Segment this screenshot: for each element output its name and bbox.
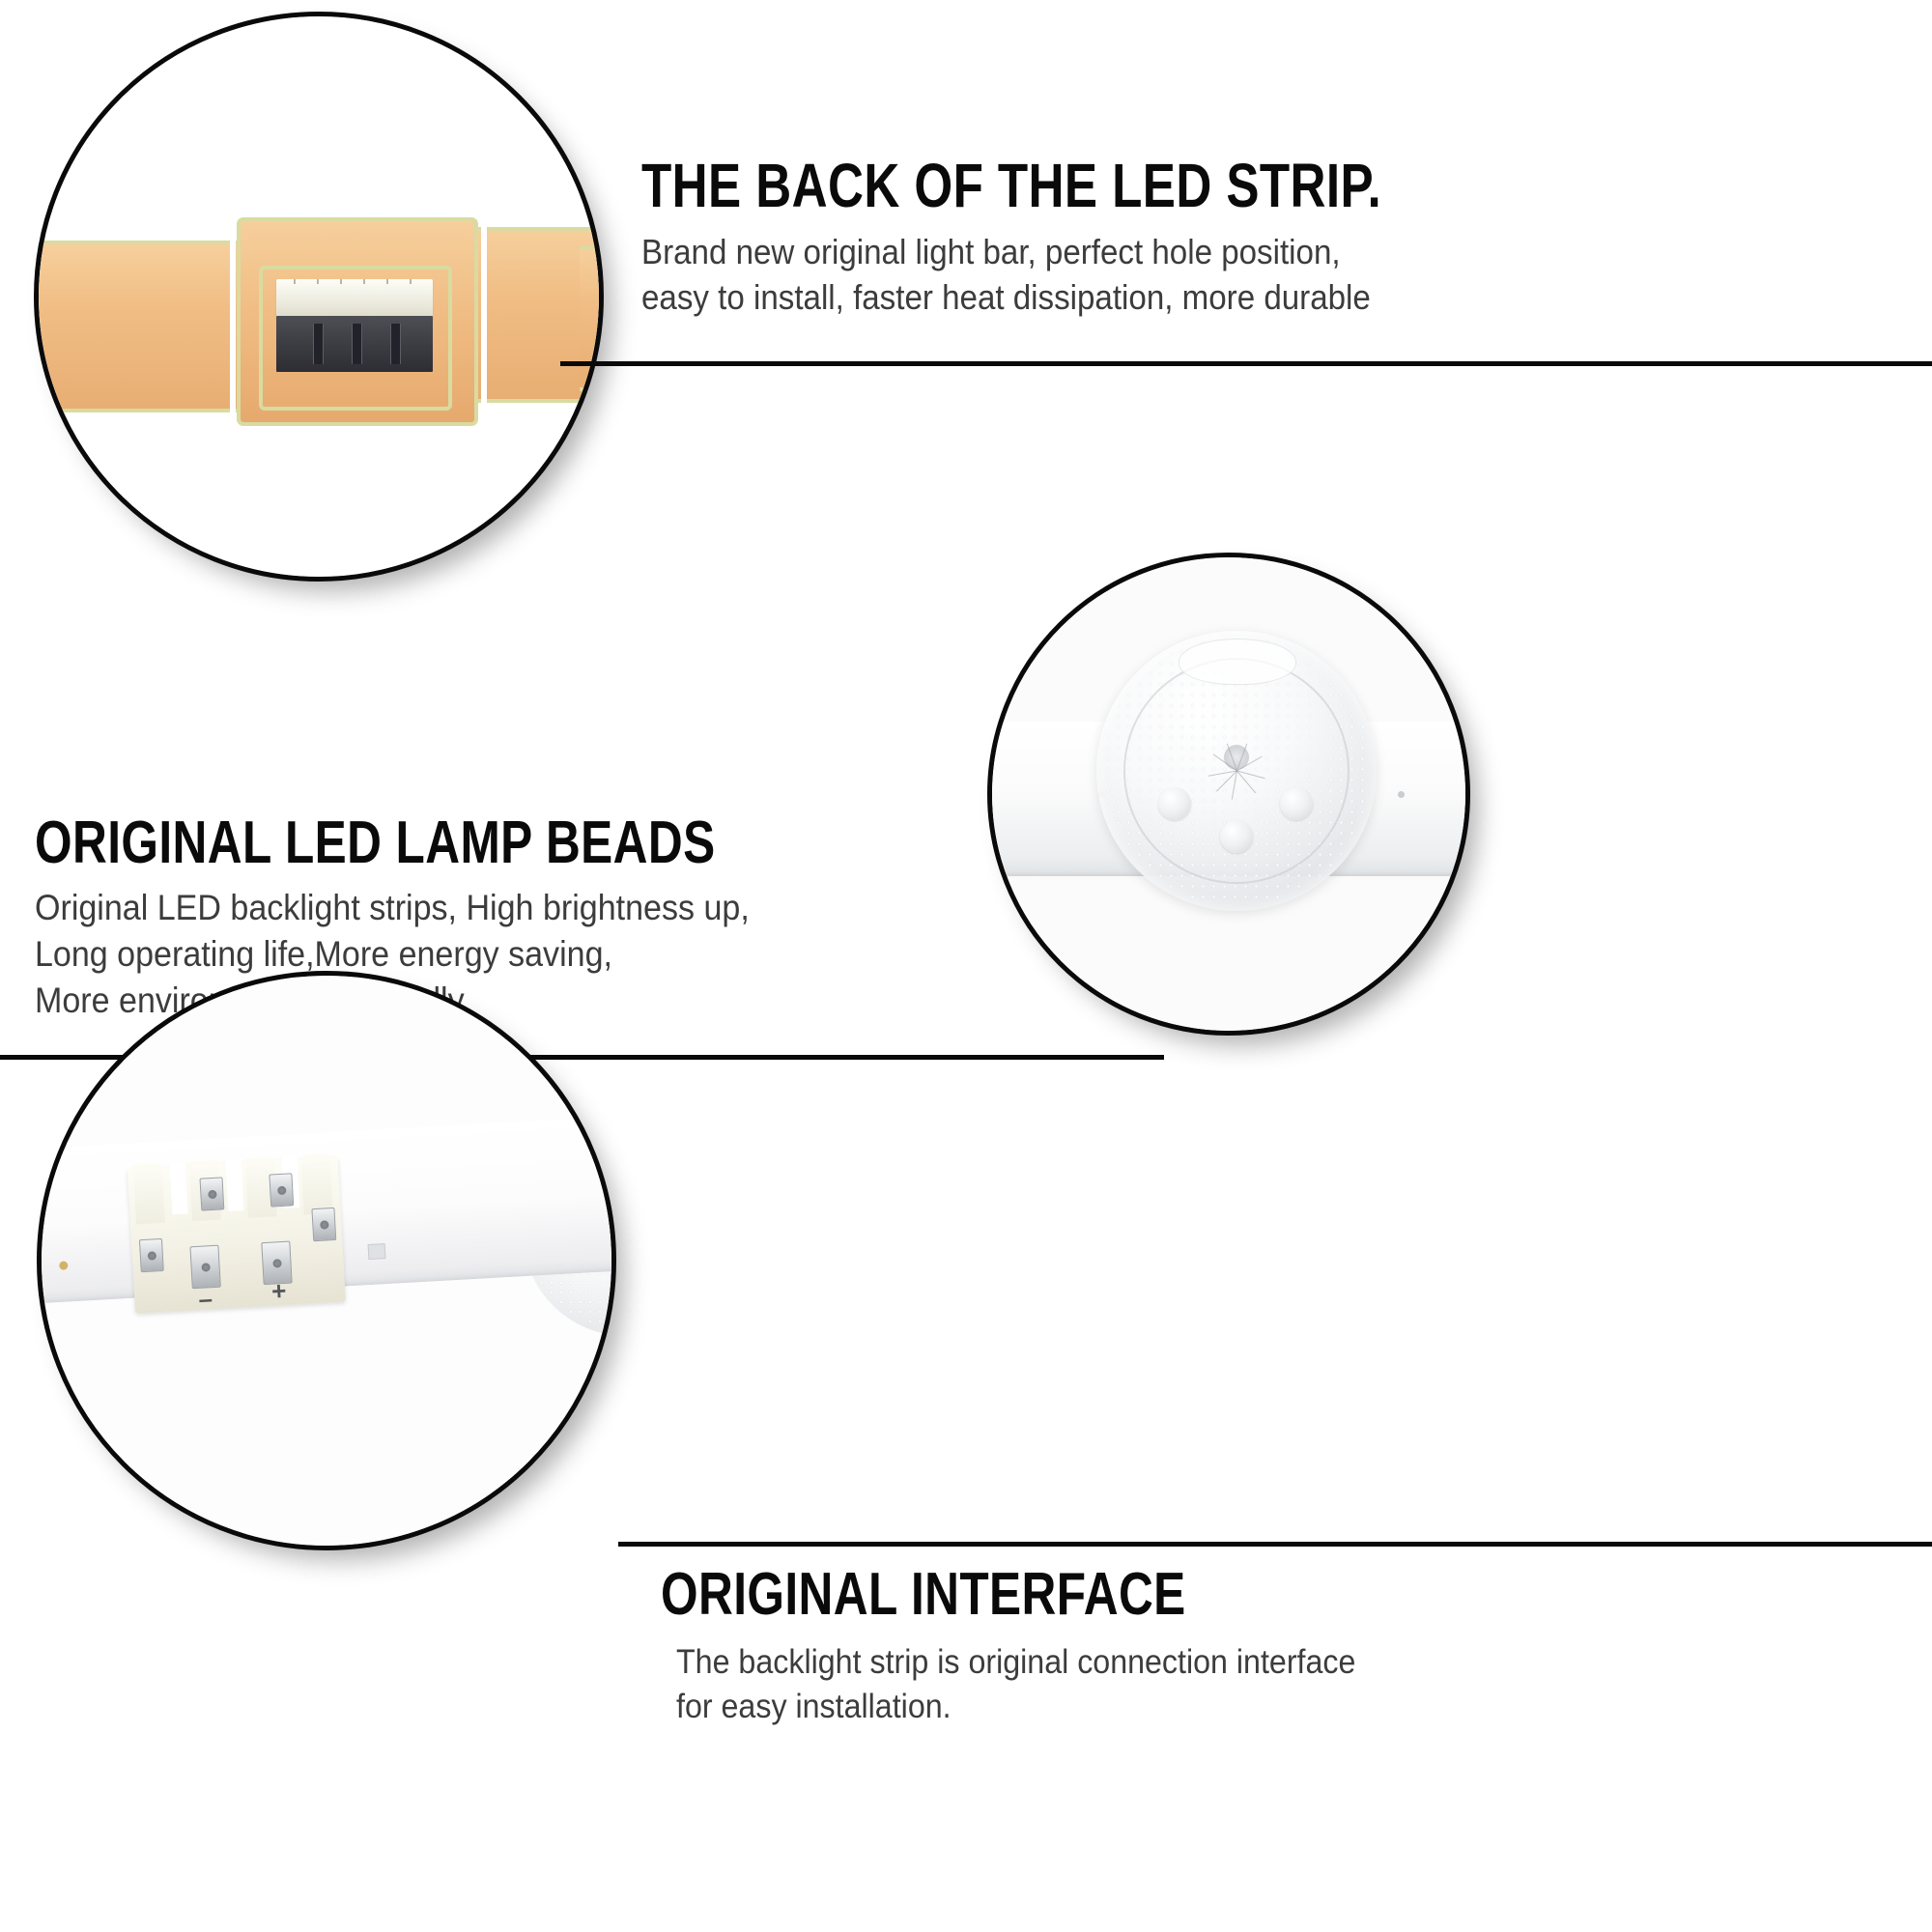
section-block-interface: ORIGINAL INTERFACE The backlight strip i… (661, 1565, 1932, 1728)
pcb-scene (39, 16, 599, 577)
divider-rule-one (560, 361, 1932, 366)
photo-inner-lamp-bead (992, 557, 1465, 1031)
heading-original-interface: ORIGINAL INTERFACE (661, 1565, 1681, 1625)
photo-back-of-strip (34, 12, 604, 582)
photo-inner-original-interface: – + (42, 976, 611, 1546)
heading-back-of-strip: THE BACK OF THE LED STRIP. (641, 155, 1662, 216)
interface-scene: – + (42, 976, 611, 1546)
lens-crown-highlight (1179, 639, 1296, 685)
body-line: The backlight strip is original connecti… (676, 1640, 1835, 1685)
photo-lamp-bead (987, 553, 1470, 1036)
polarity-minus-label: – (198, 1286, 213, 1312)
photo-inner-back-of-strip (39, 16, 599, 577)
body-original-interface: The backlight strip is original connecti… (676, 1640, 1835, 1728)
pcb-segment-far-right (580, 246, 599, 391)
connector-housing-white (276, 279, 433, 320)
body-line: Original LED backlight strips, High brig… (35, 885, 923, 931)
photo-original-interface: – + (37, 971, 616, 1550)
heading-lamp-beads: ORIGINAL LED LAMP BEADS (35, 813, 808, 873)
body-line: Brand new original light bar, perfect ho… (641, 230, 1814, 275)
lamp-bead-scene (992, 557, 1465, 1031)
pcb-segment-left (39, 241, 246, 412)
body-line: Long operating life,More energy saving, (35, 931, 923, 978)
divider-rule-three (618, 1542, 1932, 1547)
connector-body-dark (276, 316, 433, 372)
body-back-of-strip: Brand new original light bar, perfect ho… (641, 230, 1814, 321)
interface-strip-white: – + (42, 1114, 611, 1304)
lamp-bead-lens-dome (1096, 631, 1377, 911)
body-line: easy to install, faster heat dissipation… (641, 275, 1814, 321)
infographic-canvas: THE BACK OF THE LED STRIP. Brand new ori… (0, 0, 1932, 1932)
body-line: for easy installation. (676, 1685, 1835, 1729)
section-block-back-of-strip: THE BACK OF THE LED STRIP. Brand new ori… (641, 155, 1917, 321)
polarity-plus-label: + (270, 1278, 287, 1304)
interface-connector-block: – + (128, 1157, 346, 1314)
